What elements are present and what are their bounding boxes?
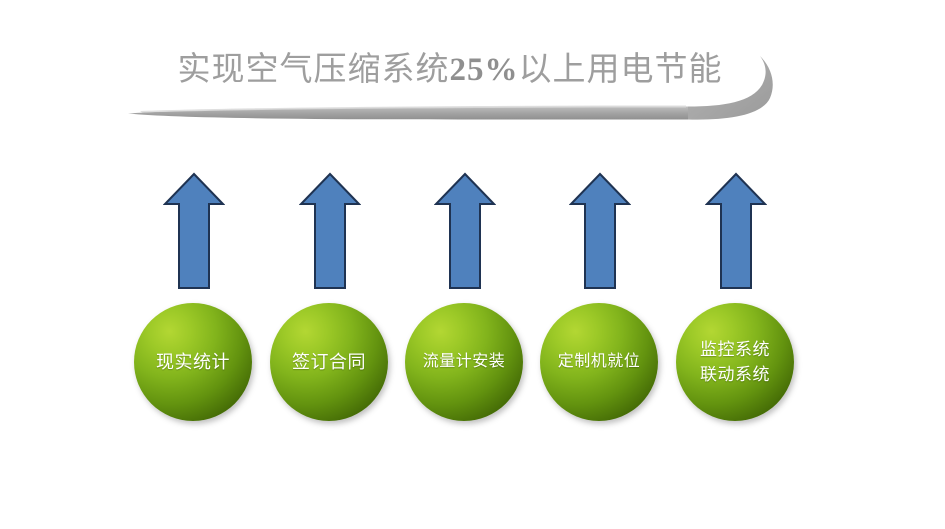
title-percent: 25%: [450, 52, 519, 88]
step-circle-4-label: 定制机就位: [554, 350, 645, 374]
step-circle-4[interactable]: 定制机就位: [540, 303, 658, 421]
arrow-up-icon-3: [434, 171, 496, 291]
step-circle-3-label: 流量计安装: [419, 350, 510, 374]
step-circle-5-label: 监控系统 联动系统: [696, 337, 774, 387]
step-circle-1-label: 现实统计: [152, 350, 234, 374]
title-banner-group: 实现空气压缩系统25%以上用电节能: [0, 30, 945, 150]
step-circle-5[interactable]: 监控系统 联动系统: [676, 303, 794, 421]
arrow-up-icon-1: [163, 171, 225, 291]
step-circle-1[interactable]: 现实统计: [134, 303, 252, 421]
title-prefix: 实现空气压缩系统: [178, 52, 450, 88]
arrow-up-icon-5: [705, 171, 767, 291]
arrow-up-icon-4: [569, 171, 631, 291]
step-circle-2-label: 签订合同: [288, 350, 370, 374]
step-circle-2[interactable]: 签订合同: [270, 303, 388, 421]
slide-canvas: 实现空气压缩系统25%以上用电节能 现实统计 签订合同 流量计安装 定制机就位: [0, 0, 945, 529]
step-circle-3[interactable]: 流量计安装: [405, 303, 523, 421]
arrow-up-icon-2: [299, 171, 361, 291]
page-title: 实现空气压缩系统25%以上用电节能: [150, 48, 750, 92]
title-suffix: 以上用电节能: [519, 52, 723, 88]
